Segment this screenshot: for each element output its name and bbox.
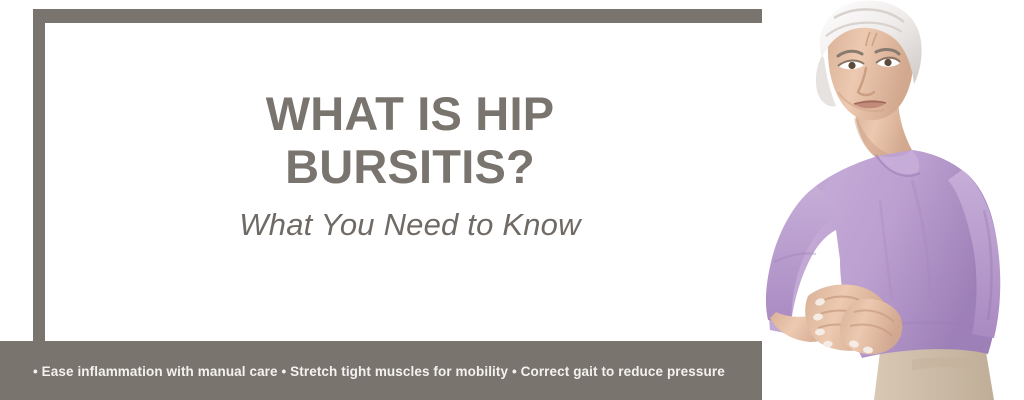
frame-left-bar [33, 9, 45, 343]
headline-line-2: BURSITIS? [60, 141, 760, 194]
headline-block: WHAT IS HIP BURSITIS? What You Need to K… [60, 88, 760, 243]
page-title: WHAT IS HIP BURSITIS? [60, 88, 760, 193]
pants-shape [874, 347, 994, 400]
hip-bursitis-banner: WHAT IS HIP BURSITIS? What You Need to K… [0, 0, 1024, 400]
bottom-band-text: • Ease inflammation with manual care • S… [33, 364, 725, 379]
page-subtitle: What You Need to Know [60, 207, 760, 243]
headline-line-1: WHAT IS HIP [266, 87, 555, 140]
woman-hip-pain-photo [762, 0, 1024, 400]
